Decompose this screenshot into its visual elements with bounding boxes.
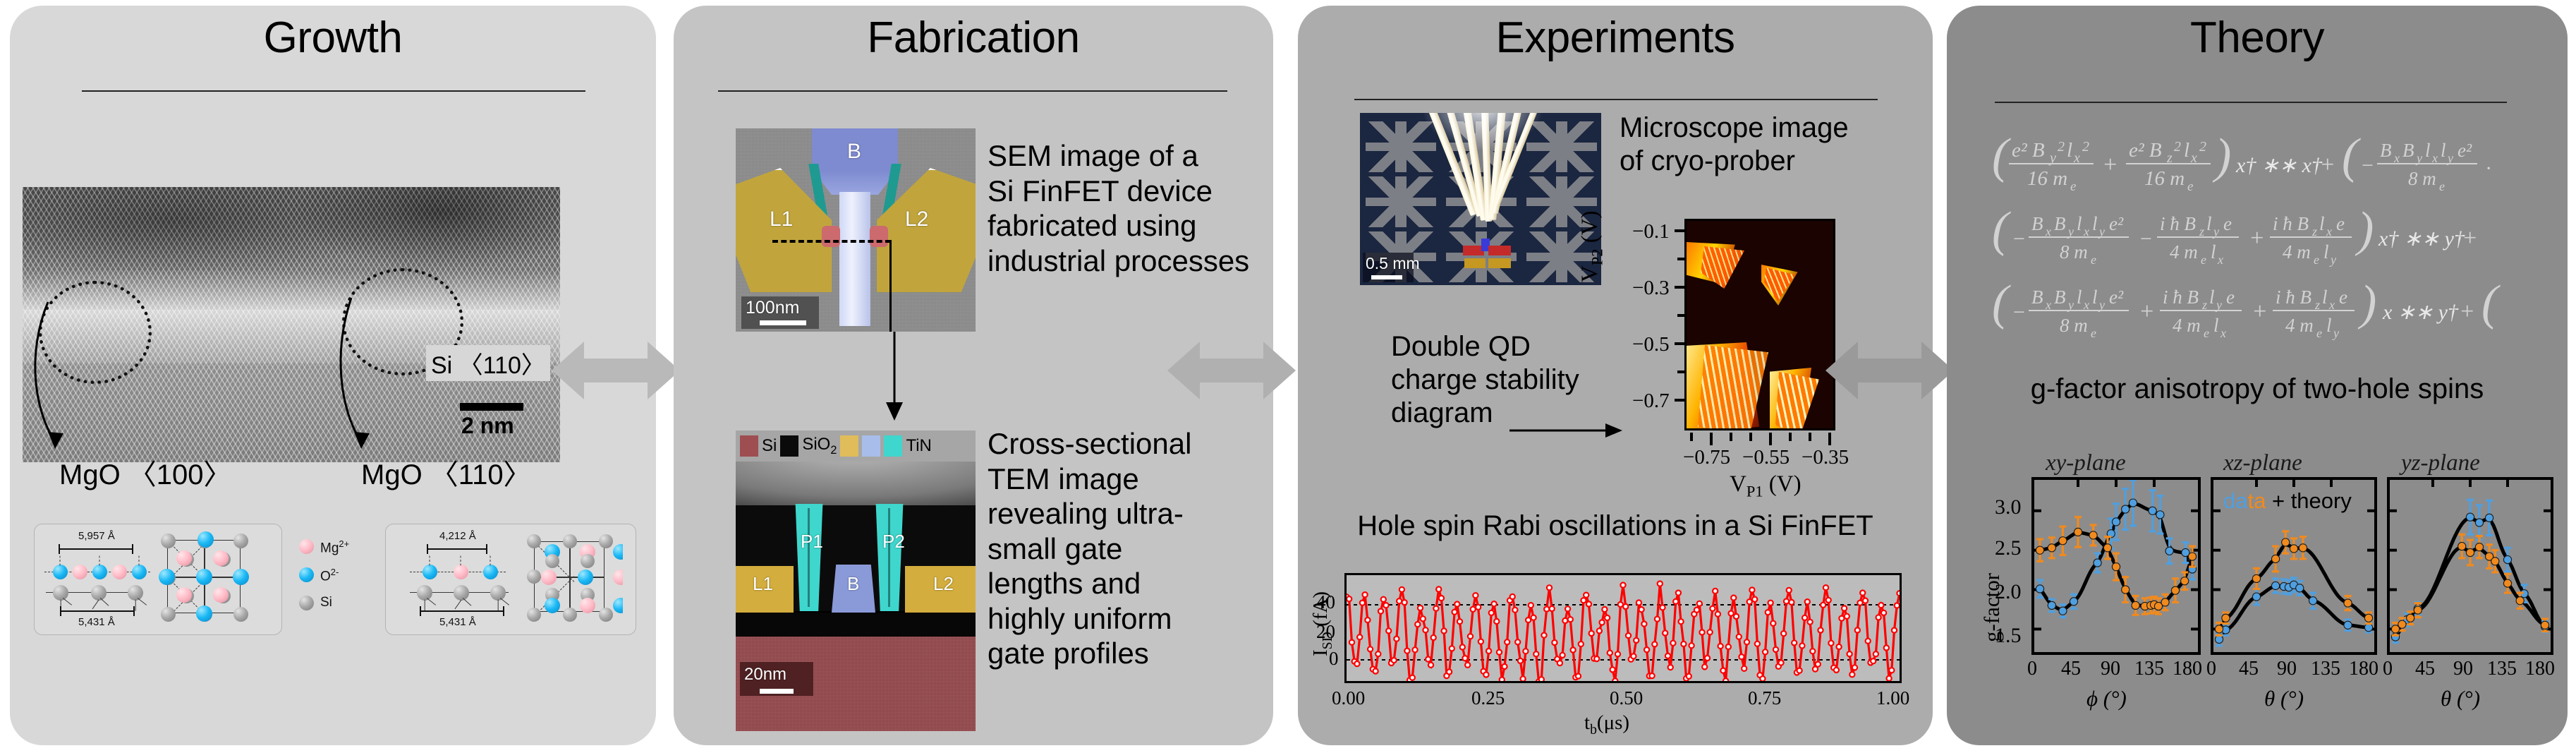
svg-text:x ∗∗ y†: x ∗∗ y† bbox=[2382, 301, 2459, 324]
legend-label-sio2: SiO2 bbox=[802, 435, 837, 457]
tem-label-l2: L2 bbox=[933, 573, 954, 595]
rabi-xtick-2: 0.50 bbox=[1610, 687, 1643, 709]
svg-text:e: e bbox=[2339, 287, 2347, 308]
panel-title-growth: Growth bbox=[10, 13, 656, 63]
panel-title-experiments: Experiments bbox=[1298, 13, 1933, 63]
svg-text:x: x bbox=[2217, 253, 2223, 267]
svg-text:16 m: 16 m bbox=[2144, 167, 2185, 190]
svg-text:l: l bbox=[2092, 287, 2098, 308]
svg-text:·: · bbox=[2486, 157, 2491, 180]
fabrication-tem-caption: Cross-sectional TEM image revealing ultr… bbox=[988, 426, 1248, 671]
legend-plus: + bbox=[2266, 488, 2290, 513]
svg-text:e: e bbox=[2316, 326, 2322, 340]
growth-label-mgo-110: MgO 〈110〉 bbox=[361, 459, 532, 492]
crystal-left-bottom-dim: 5,431 Å bbox=[78, 616, 115, 628]
experiments-csd-caption: Double QD charge stability diagram bbox=[1391, 330, 1596, 430]
gplot-title-xy: xy-plane bbox=[2046, 450, 2126, 476]
svg-text:B: B bbox=[2402, 140, 2414, 161]
svg-text:B: B bbox=[2031, 213, 2043, 234]
svg-text:i ħ B: i ħ B bbox=[2163, 287, 2199, 308]
fabrication-sem-image: B L1 L2 100nm bbox=[736, 128, 976, 332]
svg-text:e: e bbox=[2070, 179, 2076, 194]
svg-text:e²: e² bbox=[2457, 140, 2472, 161]
svg-text:4 m: 4 m bbox=[2285, 315, 2314, 336]
legend-data-orange: ta bbox=[2247, 488, 2266, 513]
svg-text:l: l bbox=[2213, 315, 2219, 336]
svg-text:+: + bbox=[2462, 225, 2478, 251]
probe-scalebar-label: 0.5 mm bbox=[1366, 254, 1420, 273]
svg-text:l: l bbox=[2077, 213, 2082, 234]
rabi-xtick-4: 1.00 bbox=[1876, 687, 1909, 709]
svg-text:): ) bbox=[2355, 203, 2374, 257]
crystal-left-top-dim: 5,957 Å bbox=[78, 530, 115, 542]
svg-text:): ) bbox=[2212, 129, 2231, 183]
sem-label-l1: L1 bbox=[770, 207, 793, 231]
legend-theory: theory bbox=[2291, 488, 2352, 513]
svg-text:l: l bbox=[2322, 287, 2328, 308]
gplot-xy-plane bbox=[2031, 477, 2201, 655]
svg-text:2: 2 bbox=[2174, 139, 2181, 155]
svg-text:2: 2 bbox=[2058, 139, 2065, 155]
svg-text:+: + bbox=[2252, 299, 2268, 325]
experiments-charge-stability-diagram bbox=[1684, 219, 1835, 430]
crystal-right-bottom-dim: 5,431 Å bbox=[439, 616, 476, 628]
svg-text:+: + bbox=[2459, 299, 2475, 325]
svg-text:l: l bbox=[2206, 213, 2212, 234]
legend-label-si-fab: Si bbox=[762, 436, 777, 456]
fabrication-tem-image: P1 P2 B L1 L2 20nm bbox=[736, 462, 976, 731]
sem-scalebar-label: 100nm bbox=[746, 298, 799, 318]
tem-label-b: B bbox=[847, 573, 859, 595]
svg-text:x† ∗∗ y†: x† ∗∗ y† bbox=[2378, 227, 2465, 251]
legend-data-blue: da bbox=[2223, 488, 2247, 513]
svg-text:i ħ B: i ħ B bbox=[2160, 213, 2196, 234]
svg-text:l: l bbox=[2425, 140, 2431, 161]
gtick-2-5: 2.5 bbox=[1995, 536, 2022, 560]
svg-text:8 m: 8 m bbox=[2060, 241, 2088, 263]
gplot-title-yz: yz-plane bbox=[2401, 450, 2480, 476]
svg-text:x† ∗∗ x†: x† ∗∗ x† bbox=[2235, 154, 2323, 177]
svg-text:e: e bbox=[2223, 213, 2232, 234]
sem-label-l2: L2 bbox=[905, 207, 928, 231]
svg-text:16 m: 16 m bbox=[2027, 167, 2067, 190]
experiments-microscope-caption: Microscope image of cryo-prober bbox=[1620, 112, 1873, 178]
panel-title-fabrication: Fabrication bbox=[674, 13, 1273, 63]
svg-text:e² B: e² B bbox=[2129, 139, 2162, 162]
panel-title-theory: Theory bbox=[1947, 13, 2568, 63]
sem-label-b: B bbox=[847, 140, 861, 164]
svg-text:2: 2 bbox=[2082, 139, 2089, 155]
svg-text:e: e bbox=[2091, 253, 2096, 267]
csd-ylabel: VP2 (V) bbox=[1577, 210, 1607, 282]
svg-text:l: l bbox=[2077, 287, 2082, 308]
csd-caption-arrow bbox=[1509, 416, 1629, 445]
csd-xtick-1: −0.55 bbox=[1742, 446, 1790, 469]
fabrication-sem-caption: SEM image of a Si FinFET device fabricat… bbox=[988, 138, 1270, 278]
svg-text:B: B bbox=[2054, 287, 2066, 308]
svg-text:e: e bbox=[2204, 326, 2209, 340]
svg-text:l: l bbox=[2326, 315, 2332, 336]
svg-text:e: e bbox=[2201, 253, 2206, 267]
arrow-fabrication-experiments bbox=[1167, 332, 1296, 409]
legend-label-si: Si bbox=[320, 595, 332, 610]
legend-label-o: O2- bbox=[320, 567, 339, 584]
svg-text:e²: e² bbox=[2109, 213, 2124, 234]
experiments-cryoprober-image: 0.5 mm bbox=[1360, 113, 1601, 285]
svg-text:B: B bbox=[2054, 213, 2066, 234]
title-rule-theory bbox=[1995, 102, 2507, 103]
svg-text:y: y bbox=[2332, 326, 2339, 340]
title-rule-experiments bbox=[1354, 99, 1878, 100]
title-rule-growth bbox=[82, 90, 585, 92]
gtick-1-5: 1.5 bbox=[1995, 624, 2022, 648]
svg-text:8 m: 8 m bbox=[2060, 315, 2088, 336]
swatch-si bbox=[740, 435, 758, 457]
svg-text:(: ( bbox=[2481, 276, 2501, 330]
svg-text:4 m: 4 m bbox=[2170, 241, 2198, 263]
arrow-experiments-theory bbox=[1825, 332, 1954, 409]
svg-text:e: e bbox=[2091, 326, 2096, 340]
experiments-rabi-title: Hole spin Rabi oscillations in a Si FinF… bbox=[1333, 510, 1897, 543]
figure-canvas: Growth Si 〈110〉 2 nm MgO 〈100〉 MgO 〈110〉… bbox=[0, 0, 2576, 753]
svg-text:e: e bbox=[2187, 179, 2193, 194]
rabi-ylabel: ISD (fA) bbox=[1309, 591, 1336, 656]
svg-text:−: − bbox=[2139, 227, 2153, 251]
growth-label-mgo-100: MgO 〈100〉 bbox=[59, 459, 232, 492]
tem-label-p2: P2 bbox=[882, 531, 905, 553]
gplot-xy-xlabel: ϕ (°) bbox=[2086, 686, 2127, 711]
svg-text:B: B bbox=[2380, 140, 2392, 161]
svg-text:l: l bbox=[2323, 241, 2329, 263]
csd-xlabel: VP1 (V) bbox=[1730, 471, 1802, 501]
tem-scalebar-label: 20nm bbox=[744, 665, 786, 685]
legend-label-mg: Mg2+ bbox=[320, 538, 349, 556]
svg-text:): ) bbox=[2357, 276, 2376, 330]
svg-text:(: ( bbox=[1992, 129, 2011, 183]
svg-text:(: ( bbox=[2342, 129, 2361, 183]
svg-text:+: + bbox=[2102, 152, 2118, 178]
svg-text:8 m: 8 m bbox=[2408, 168, 2436, 189]
csd-ytick-1: −0.3 bbox=[1632, 277, 1670, 300]
title-rule-fabrication bbox=[718, 90, 1227, 92]
svg-text:4 m: 4 m bbox=[2173, 315, 2201, 336]
experiments-rabi-plot bbox=[1344, 573, 1902, 683]
arrow-growth-fabrication bbox=[552, 332, 680, 409]
fabrication-material-legend: Si SiO2 TiN bbox=[736, 430, 976, 462]
swatch-gold bbox=[840, 435, 858, 457]
growth-scalebar-label: 2 nm bbox=[461, 413, 514, 439]
svg-text:e²: e² bbox=[2109, 287, 2124, 308]
svg-text:e: e bbox=[2439, 179, 2445, 193]
tem-label-p1: P1 bbox=[801, 531, 823, 553]
svg-text:e: e bbox=[2314, 253, 2319, 267]
csd-xtick-2: −0.35 bbox=[1802, 446, 1849, 469]
svg-text:e: e bbox=[2336, 213, 2345, 234]
svg-text:2: 2 bbox=[2199, 139, 2206, 155]
svg-text:y: y bbox=[2329, 253, 2336, 267]
svg-text:+: + bbox=[2249, 225, 2265, 251]
svg-text:B: B bbox=[2031, 287, 2043, 308]
swatch-sio2 bbox=[780, 435, 798, 457]
gtick-3-0: 3.0 bbox=[1995, 495, 2022, 519]
theory-equation-block: ( e² B y 2 l x 2 16 m e + e² B z 2 l x 2… bbox=[1988, 126, 2552, 359]
svg-text:+: + bbox=[2139, 299, 2155, 325]
svg-text:(: ( bbox=[1992, 203, 2011, 257]
gplot-xz-xlabel: θ (°) bbox=[2264, 686, 2304, 711]
svg-text:l: l bbox=[2441, 140, 2446, 161]
svg-text:x: x bbox=[2220, 326, 2226, 340]
tem-label-l1: L1 bbox=[753, 573, 773, 595]
svg-text:i ħ B: i ħ B bbox=[2276, 287, 2311, 308]
svg-text:l: l bbox=[2092, 213, 2098, 234]
rabi-xtick-3: 0.75 bbox=[1748, 687, 1781, 709]
legend-label-tin: TiN bbox=[906, 436, 931, 456]
svg-text:l: l bbox=[2211, 241, 2216, 263]
svg-text:4 m: 4 m bbox=[2283, 241, 2311, 263]
svg-text:−: − bbox=[2360, 154, 2374, 177]
svg-text:l: l bbox=[2209, 287, 2215, 308]
swatch-blue bbox=[862, 435, 880, 457]
svg-text:e² B: e² B bbox=[2012, 139, 2045, 162]
svg-text:l: l bbox=[2067, 139, 2072, 162]
gtick-2-0: 2.0 bbox=[1995, 580, 2022, 604]
theory-gfactor-title: g-factor anisotropy of two-hole spins bbox=[1975, 373, 2539, 406]
svg-text:−: − bbox=[2012, 301, 2026, 324]
growth-species-legend: Mg2+ O2- Si bbox=[299, 536, 377, 628]
gplot-yz-plane bbox=[2387, 477, 2553, 655]
csd-ytick-3: −0.7 bbox=[1632, 390, 1670, 413]
rabi-xlabel: tb(μs) bbox=[1584, 711, 1629, 738]
svg-text:i ħ B: i ħ B bbox=[2273, 213, 2309, 234]
fabrication-down-arrow bbox=[880, 332, 909, 423]
growth-scalebar-line bbox=[460, 403, 523, 411]
svg-text:(: ( bbox=[1992, 276, 2011, 330]
csd-xtick-0: −0.75 bbox=[1683, 446, 1730, 469]
growth-crystal-diagram-left: 5,957 Å 5,431 Å bbox=[34, 524, 282, 635]
svg-text:−: − bbox=[2012, 227, 2026, 251]
csd-ytick-0: −0.1 bbox=[1632, 220, 1670, 243]
svg-text:l: l bbox=[2184, 139, 2189, 162]
rabi-xtick-0: 0.00 bbox=[1332, 687, 1365, 709]
crystal-right-top-dim: 4,212 Å bbox=[439, 530, 476, 542]
svg-text:e: e bbox=[2226, 287, 2235, 308]
growth-crystal-diagram-right: 4,212 Å 5,431 Å bbox=[385, 524, 636, 635]
gplot-yz-xlabel: θ (°) bbox=[2441, 686, 2480, 711]
svg-text:+: + bbox=[2319, 152, 2335, 178]
gplot-legend: data + theory bbox=[2223, 488, 2352, 514]
gplot-title-xz: xz-plane bbox=[2223, 450, 2302, 476]
rabi-xtick-1: 0.25 bbox=[1471, 687, 1505, 709]
svg-text:l: l bbox=[2319, 213, 2325, 234]
csd-ytick-2: −0.5 bbox=[1632, 333, 1670, 356]
swatch-tin bbox=[884, 435, 902, 457]
